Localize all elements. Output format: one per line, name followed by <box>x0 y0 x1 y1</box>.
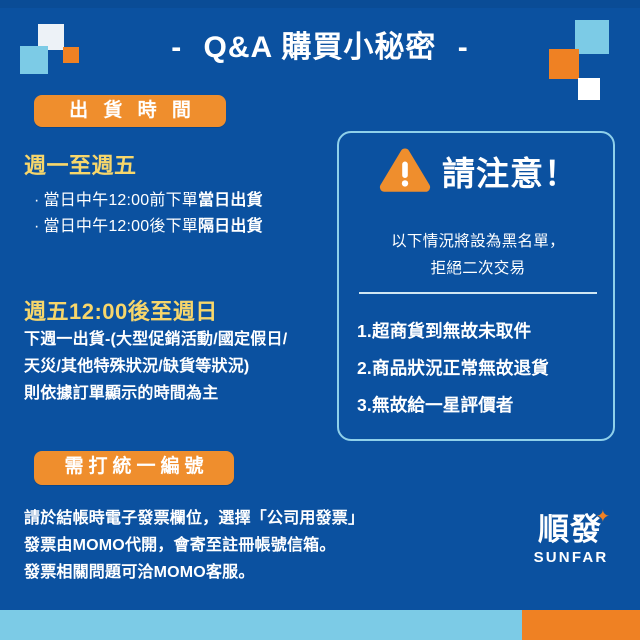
notice-item-list: 1.超商貨到無故未取件 2.商品狀況正常無故退貨 3.無故給一星評價者 <box>357 313 607 424</box>
decor-square-white-right <box>578 78 600 100</box>
title-dash-right: - <box>458 31 469 65</box>
weekend-line-1: 下週一出貨-(大型促銷活動/國定假日/ <box>24 326 339 353</box>
notice-subtitle: 以下情況將設為黑名單， 拒絕二次交易 <box>339 228 617 282</box>
title-dash-left: - <box>171 31 182 65</box>
notice-subtitle-line-1: 以下情況將設為黑名單， <box>339 228 617 255</box>
invoice-line-1: 請於結帳時電子發票欄位，選擇「公司用發票」 <box>24 505 454 532</box>
page-title: - Q&A 購買小秘密 - <box>0 22 640 66</box>
list-item: 3.無故給一星評價者 <box>357 387 607 424</box>
warning-triangle-icon <box>378 147 432 195</box>
notice-box: 請注意！ 以下情況將設為黑名單， 拒絕二次交易 1.超商貨到無故未取件 2.商品… <box>337 131 615 441</box>
shipping-time-banner: 出 貨 時 間 <box>34 95 226 127</box>
logo-english-label: SUNFAR <box>518 548 622 568</box>
brand-logo: 順發 ✦ SUNFAR <box>518 512 622 568</box>
list-item: 2.商品狀況正常無故退貨 <box>357 350 607 387</box>
tax-id-banner: 需打統一編號 <box>34 451 234 485</box>
notice-subtitle-line-2: 拒絕二次交易 <box>339 255 617 282</box>
weekday-heading: 週一至週五 <box>24 148 334 180</box>
invoice-line-3: 發票相關問題可洽MOMO客服。 <box>24 559 454 586</box>
notice-divider <box>359 292 597 294</box>
weekend-paragraph: 下週一出貨-(大型促銷活動/國定假日/ 天災/其他特殊狀況/缺貨等狀況) 則依據… <box>24 326 339 407</box>
notice-title: 請注意！ <box>442 147 578 195</box>
title-text: Q&A 購買小秘密 <box>204 31 437 64</box>
list-item: ·當日中午12:00後下單隔日出貨 <box>34 214 344 240</box>
weekend-line-2: 天災/其他特殊狀況/缺貨等狀況) <box>24 353 339 380</box>
weekend-heading: 週五12:00後至週日 <box>24 294 334 326</box>
bullet-text-plain: 當日中午12:00前下單 <box>44 192 198 209</box>
footer-bar-right <box>522 610 640 640</box>
bullet-text-plain: 當日中午12:00後下單 <box>44 218 198 235</box>
logo-chinese-text: 順發 ✦ <box>538 512 602 548</box>
weekend-line-3: 則依據訂單顯示的時間為主 <box>24 380 339 407</box>
bullet-dot: · <box>34 192 40 209</box>
bullet-text-bold: 隔日出貨 <box>198 218 263 235</box>
bullet-dot: · <box>34 218 40 235</box>
notice-header: 請注意！ <box>339 147 617 195</box>
logo-plus-icon: ✦ <box>596 509 611 526</box>
poster-canvas: - Q&A 購買小秘密 - 出 貨 時 間 週一至週五 ·當日中午12:00前下… <box>0 0 640 640</box>
logo-chinese-label: 順發 <box>538 512 602 548</box>
invoice-line-2: 發票由MOMO代開，會寄至註冊帳號信箱。 <box>24 532 454 559</box>
bullet-text-bold: 當日出貨 <box>198 192 263 209</box>
weekday-bullet-list: ·當日中午12:00前下單當日出貨 ·當日中午12:00後下單隔日出貨 <box>34 188 344 240</box>
list-item: 1.超商貨到無故未取件 <box>357 313 607 350</box>
list-item: ·當日中午12:00前下單當日出貨 <box>34 188 344 214</box>
invoice-paragraph: 請於結帳時電子發票欄位，選擇「公司用發票」 發票由MOMO代開，會寄至註冊帳號信… <box>24 505 454 586</box>
top-accent-strip <box>0 0 640 8</box>
